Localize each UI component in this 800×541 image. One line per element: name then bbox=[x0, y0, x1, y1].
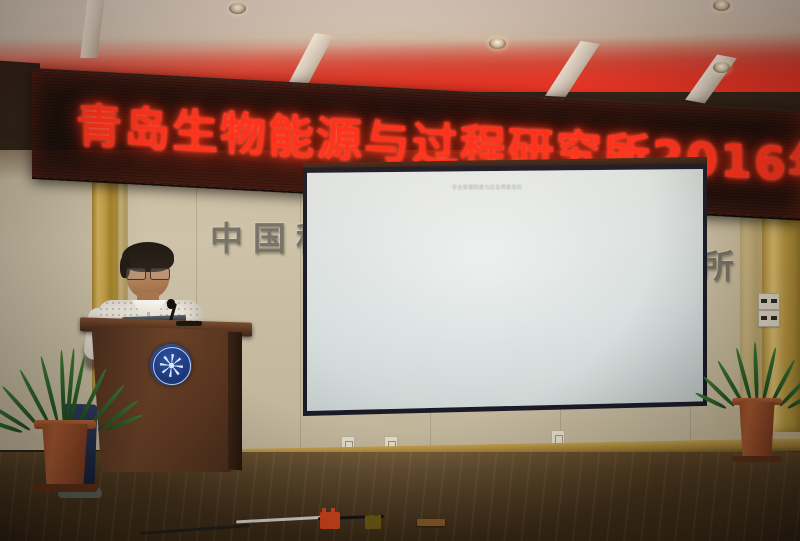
chinese-academy-of-sciences-emblem bbox=[150, 344, 192, 386]
flower-pot bbox=[38, 424, 92, 486]
screen-light-falloff bbox=[307, 169, 703, 411]
downlight-icon bbox=[229, 3, 246, 14]
microphone-base bbox=[176, 321, 202, 326]
conference-hall-photo: 中国科 究所 青岛生物能源与过程研究所2016年安全专题会议 安全管理制度与应急… bbox=[0, 0, 800, 541]
light-switch-plate[interactable] bbox=[758, 293, 780, 310]
pot-saucer bbox=[732, 456, 782, 462]
downlight-icon bbox=[489, 38, 506, 49]
downlight-icon bbox=[713, 62, 730, 73]
glasses-icon bbox=[125, 268, 171, 278]
brown-flat-object bbox=[417, 519, 445, 526]
emblem-star-icon bbox=[160, 354, 183, 377]
slide-text: 安全管理制度与应急预案培训 bbox=[452, 184, 582, 191]
light-switch-plate[interactable] bbox=[758, 310, 780, 327]
microphone-icon bbox=[167, 299, 175, 309]
potted-palm-right bbox=[712, 340, 800, 462]
downlight-icon bbox=[713, 0, 730, 11]
pot-saucer bbox=[32, 484, 98, 492]
orange-power-adapter bbox=[320, 512, 340, 529]
olive-connector-box bbox=[365, 515, 381, 529]
potted-palm-left bbox=[10, 346, 120, 492]
flower-pot bbox=[736, 402, 778, 458]
podium-side-panel bbox=[228, 332, 242, 471]
